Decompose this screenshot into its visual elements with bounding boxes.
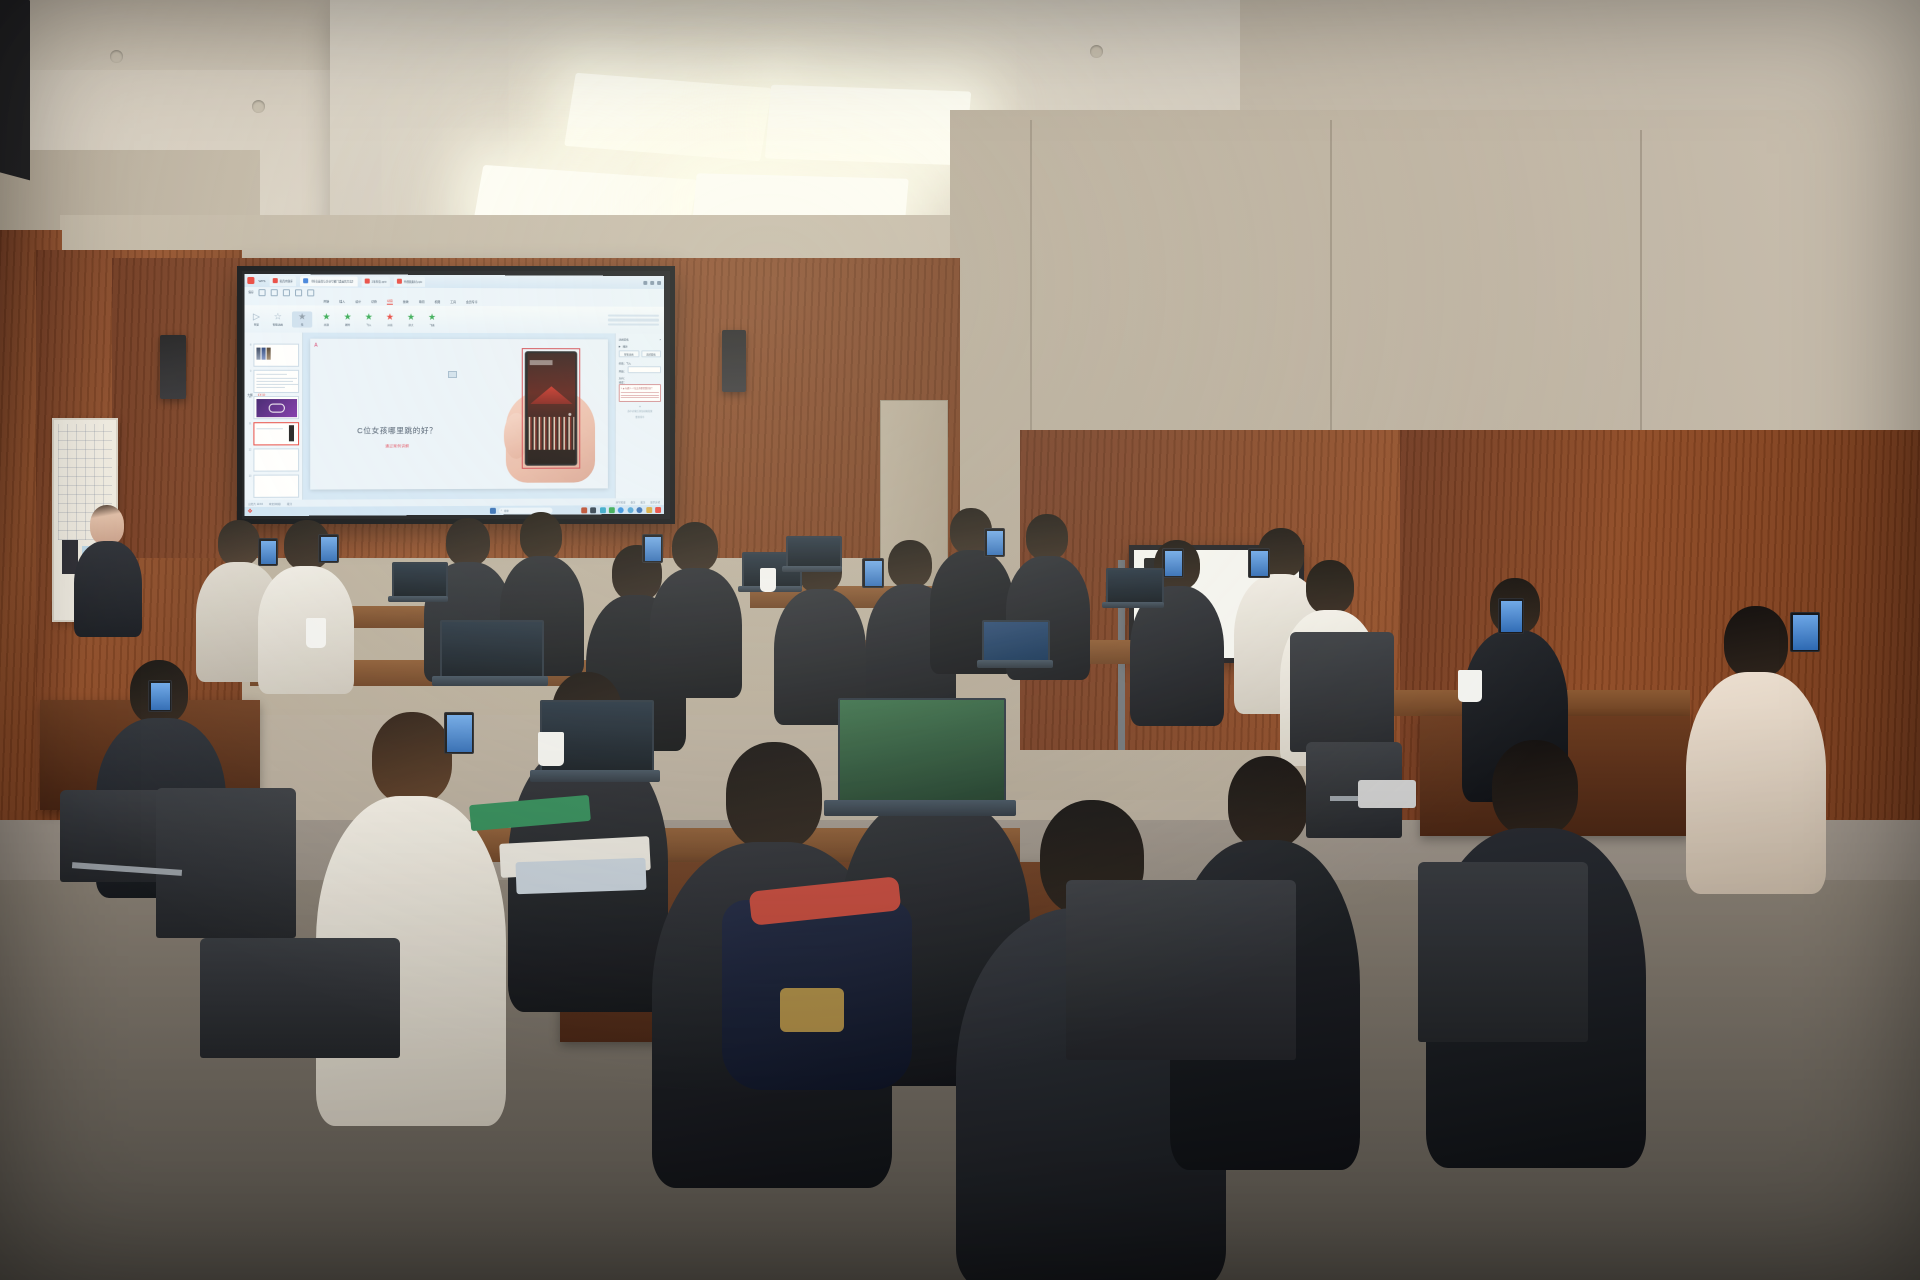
- ribbon-anim-none[interactable]: ★ 无: [292, 311, 312, 327]
- ribbon-anim-flyin-label: 飞入: [366, 322, 371, 326]
- wall-speaker-right: [722, 330, 746, 392]
- ribbon-tab-animation[interactable]: 动画: [387, 298, 393, 304]
- animation-ribbon[interactable]: ▷ 预览 ☆ 智能动画 ★ 无 ★ 出现: [244, 305, 664, 333]
- wall-speaker-left: [160, 335, 186, 399]
- ribbon-anim-none-label: 无: [301, 322, 304, 326]
- ribbon-line-3: [608, 323, 659, 326]
- ribbon-preview-button[interactable]: ▷ 预览: [249, 312, 263, 326]
- thumbnail-row-10[interactable]: 10: [247, 396, 299, 419]
- projection-screen-frame: WPS 稻壳内容库 【抖音运营与企业号被门类运营方法】 2年抖音.pptx: [237, 266, 675, 524]
- folder-icon[interactable]: [646, 507, 652, 513]
- star-icon-fade: ★: [386, 312, 394, 321]
- ribbon-tab-transition[interactable]: 切换: [371, 299, 377, 303]
- status-spellcheck[interactable]: 拼写检查: [616, 500, 626, 504]
- wps-tab-label-1: 稻壳内容库: [280, 279, 293, 283]
- wps-office-window[interactable]: WPS 稻壳内容库 【抖音运营与企业号被门类运营方法】 2年抖音.pptx: [244, 274, 664, 516]
- audience-member-6: [650, 522, 742, 692]
- play-triangle-icon: ▶: [619, 345, 621, 348]
- wps-tab-label-2: 【抖音运营与企业号被门类运营方法】: [310, 279, 355, 283]
- animation-pane-title: 动画窗格: [619, 337, 629, 341]
- start-field-label: 开始：: [619, 369, 626, 373]
- reorder-label[interactable]: 重新排序: [619, 415, 661, 419]
- phone-raised-12: [1790, 612, 1820, 652]
- ribbon-tab-slideshow[interactable]: 放映: [403, 299, 409, 303]
- ribbon-anim-appear-label: 出现: [324, 322, 329, 326]
- status-comments[interactable]: 批注: [640, 500, 645, 504]
- ribbon-tab-start[interactable]: 开始: [323, 299, 329, 303]
- thumbnail-11-selected[interactable]: [253, 422, 299, 445]
- ceiling-sensor-2: [252, 100, 265, 113]
- thumbnail-13[interactable]: [253, 475, 299, 498]
- window-controls[interactable]: [643, 280, 661, 284]
- slide-hand-holding-phone-image: [502, 348, 599, 483]
- phone-raised-10: [148, 680, 172, 712]
- animation-pane-hint: 选中对象后添加动画效果: [619, 409, 661, 413]
- status-comment[interactable]: 批注: [287, 502, 292, 506]
- presenter: [72, 505, 142, 635]
- ceiling-sensor-3: [1090, 45, 1103, 58]
- thumbnail-8[interactable]: [253, 344, 299, 367]
- thumbnail-row-13[interactable]: 13: [247, 475, 299, 498]
- photo-scene: WPS 稻壳内容库 【抖音运营与企业号被门类运营方法】 2年抖音.pptx: [0, 0, 1920, 1280]
- phone-raised-4: [862, 558, 884, 588]
- thumbnail-row-11[interactable]: 11: [247, 422, 299, 445]
- ribbon-anim-flyin[interactable]: ★ 飞入: [362, 312, 376, 326]
- backpack: [722, 900, 912, 1090]
- thumbnail-row-9[interactable]: 9: [247, 370, 299, 393]
- ribbon-anim-fade-label: 淡出: [387, 322, 392, 326]
- ribbon-tab-insert[interactable]: 插入: [339, 299, 345, 303]
- ribbon-anim-fast-label: 飞速: [429, 322, 434, 326]
- thumbnail-12[interactable]: [253, 448, 299, 471]
- play-icon: ▷: [253, 312, 260, 321]
- thumbnail-10[interactable]: [253, 396, 299, 419]
- ribbon-anim-fast[interactable]: ★ 飞速: [425, 312, 439, 326]
- slide-subtitle: 通过案例讲解: [310, 444, 484, 449]
- animation-pane-buttons[interactable]: 智能动画 选择窗格: [619, 350, 661, 359]
- phone-raised-7: [1162, 548, 1184, 578]
- chair-2: [156, 788, 296, 938]
- qat-label[interactable]: 保存: [248, 290, 253, 294]
- ribbon-tab-design[interactable]: 设计: [355, 299, 361, 303]
- phone-raised-6: [984, 528, 1005, 557]
- power-strip: [1358, 780, 1416, 808]
- thumbnail-people-icon: [256, 348, 270, 360]
- animation-list-box[interactable]: 1 ★ 标题 1: C位女孩哪里跳的好？: [619, 384, 661, 402]
- cup-2: [538, 732, 564, 766]
- cup-4: [1458, 670, 1482, 702]
- status-language[interactable]: 中文(中国): [269, 502, 281, 506]
- ppt-icon: [365, 279, 370, 284]
- status-slide-counter: 幻灯片 11/44: [248, 502, 263, 506]
- chair-7: [1066, 880, 1296, 1060]
- qq-icon[interactable]: [618, 507, 624, 513]
- thumbnail-number-9: 9: [247, 370, 251, 373]
- selection-pane-button[interactable]: 选择窗格: [641, 350, 661, 357]
- chair-3: [200, 938, 400, 1058]
- wps-tab-3[interactable]: 2年抖音.pptx: [362, 276, 390, 286]
- slide-title: C位女孩哪里跳的好？: [310, 424, 484, 435]
- ribbon-line-1: [608, 314, 659, 317]
- star-outline-icon: ☆: [274, 312, 282, 321]
- ribbon-tab-review[interactable]: 审阅: [419, 299, 425, 303]
- left-wall-monitor: [0, 0, 30, 180]
- chair-4: [1290, 632, 1394, 752]
- ceiling-light-1: [564, 73, 772, 162]
- wps-tab-label-4: 中视频素材.pptx: [404, 279, 423, 283]
- slide-panel-tab-outline[interactable]: 大纲: [247, 393, 252, 398]
- current-slide[interactable]: A C位女孩哪里跳的好？ 通过案例讲解: [310, 339, 608, 490]
- star-icon-none: ★: [298, 312, 306, 321]
- ribbon-anim-appear[interactable]: ★ 出现: [319, 312, 333, 326]
- ribbon-anim-wipe-label: 擦除: [345, 322, 350, 326]
- taskbar-app-icons[interactable]: [581, 507, 661, 513]
- start-field-input[interactable]: [627, 366, 661, 373]
- status-view-mode[interactable]: 显示方式: [650, 500, 660, 504]
- maximize-icon[interactable]: [650, 280, 654, 284]
- thumbnail-number-12: 12: [247, 448, 251, 451]
- status-notes[interactable]: 备注: [631, 500, 636, 504]
- ceiling-light-2: [765, 85, 971, 166]
- phone-raised-2: [318, 534, 339, 563]
- animation-list-item[interactable]: 1 ★ 标题 1: C位女孩哪里跳的好？: [621, 386, 659, 390]
- cup-3: [760, 568, 776, 592]
- wps-tab-4[interactable]: 中视频素材.pptx: [394, 276, 426, 286]
- folder: [515, 858, 646, 895]
- wps-workspace: 大纲 幻灯片 8 9: [244, 332, 664, 500]
- wps-tab-2[interactable]: 【抖音运营与企业号被门类运营方法】: [300, 276, 358, 286]
- app-icon-2[interactable]: [590, 507, 596, 513]
- slide-logo-icon: A: [314, 343, 317, 349]
- chair-6: [1418, 862, 1588, 1042]
- ribbon-preview-label: 预览: [254, 322, 259, 326]
- ribbon-smart-animation-button[interactable]: ☆ 智能动画: [271, 312, 285, 326]
- wechat-icon[interactable]: [609, 507, 615, 513]
- thumbnail-number-13: 13: [247, 475, 251, 478]
- edge-icon[interactable]: [637, 507, 643, 513]
- wps-tab-label-3: 2年抖音.pptx: [372, 279, 387, 283]
- wps-app-icon[interactable]: [655, 507, 661, 513]
- status-right-group[interactable]: 拼写检查 备注 批注 显示方式: [616, 500, 660, 504]
- format-painter-icon[interactable]: [295, 289, 302, 296]
- ribbon-smart-animation-label: 智能动画: [273, 322, 283, 326]
- minimize-icon[interactable]: [643, 280, 647, 284]
- share-icon[interactable]: [307, 289, 314, 296]
- star-icon-grow: ★: [407, 312, 415, 321]
- ribbon-anim-fade[interactable]: ★ 淡出: [383, 312, 397, 326]
- redo-icon[interactable]: [283, 289, 290, 296]
- undo-icon[interactable]: [271, 289, 278, 296]
- slide-image-selection-frame: [522, 348, 580, 468]
- cup-1: [306, 618, 326, 648]
- thumbnail-row-8[interactable]: 8: [247, 344, 299, 367]
- windows-start-icon[interactable]: ❖: [247, 508, 252, 515]
- ribbon-anim-wipe[interactable]: ★ 擦除: [341, 312, 355, 326]
- thumbnail-9[interactable]: [253, 370, 299, 393]
- thumbnail-dark-banner: [256, 399, 297, 417]
- thumbnail-phone-icon: [289, 425, 294, 441]
- ceiling-sensor-1: [110, 50, 123, 63]
- doc-icon: [303, 278, 308, 283]
- thumbnail-number-8: 8: [247, 344, 251, 347]
- phone-raised-11: [444, 712, 474, 754]
- star-icon-appear: ★: [322, 312, 330, 321]
- ribbon-tab-tools[interactable]: 工具: [450, 299, 456, 303]
- mail-icon[interactable]: [600, 507, 606, 513]
- phone-raised-3: [642, 534, 663, 563]
- star-icon-flyin: ★: [365, 312, 373, 321]
- grid-icon: [273, 278, 278, 283]
- slide-editing-area[interactable]: A C位女孩哪里跳的好？ 通过案例讲解: [303, 333, 615, 500]
- conference-room: WPS 稻壳内容库 【抖音运营与企业号被门类运营方法】 2年抖音.pptx: [0, 0, 1920, 1280]
- projection-screen[interactable]: WPS 稻壳内容库 【抖音运营与企业号被门类运营方法】 2年抖音.pptx: [244, 274, 664, 516]
- animation-play-label: 播放: [623, 344, 628, 348]
- wps-tab-1[interactable]: 稻壳内容库: [270, 276, 296, 286]
- slide-thumbnail-panel[interactable]: 大纲 幻灯片 8 9: [244, 332, 303, 500]
- slide-video-placeholder: [448, 370, 457, 377]
- ribbon-tab-view[interactable]: 视图: [434, 299, 440, 303]
- wps-tab-label-0[interactable]: WPS: [258, 279, 265, 283]
- thumbnail-number-11: 11: [247, 422, 251, 425]
- backpack-badge: [780, 988, 844, 1032]
- phone-raised-9: [1498, 598, 1524, 634]
- windows-taskbar[interactable]: ❖ ⌕ 搜索: [244, 505, 664, 516]
- animation-pane-header: 动画窗格 ×: [619, 337, 661, 341]
- close-icon[interactable]: [657, 280, 661, 284]
- task-view-icon[interactable]: [490, 507, 496, 513]
- ribbon-tab-member[interactable]: 会员专享: [466, 300, 478, 304]
- smart-animation-button[interactable]: 智能动画: [619, 350, 639, 357]
- ppt-icon-2: [397, 279, 402, 284]
- animation-play-row[interactable]: ▶ 播放: [619, 344, 661, 348]
- thumbnail-row-12[interactable]: 12: [247, 448, 299, 471]
- audience-member-2: [258, 520, 354, 690]
- wps-logo-icon: [247, 277, 254, 284]
- animation-pane-close-icon[interactable]: ×: [660, 338, 661, 341]
- ribbon-line-2: [608, 319, 659, 322]
- print-icon[interactable]: [259, 289, 266, 296]
- star-icon-fast: ★: [428, 312, 436, 321]
- phone-raised-8: [1248, 548, 1270, 578]
- animation-pane[interactable]: 动画窗格 × ▶ 播放 智能动画 选择窗格 修改：飞入: [615, 333, 664, 498]
- modify-section-title: 修改：飞入: [619, 361, 661, 365]
- ribbon-anim-grow-label: 放大: [408, 322, 413, 326]
- ribbon-anim-grow[interactable]: ★ 放大: [404, 312, 418, 326]
- star-icon-wipe: ★: [343, 312, 351, 321]
- scene-caption: Conference room training session with pr…: [14, 1261, 340, 1272]
- browser-icon[interactable]: [627, 507, 633, 513]
- ribbon-overflow-options[interactable]: [608, 314, 659, 325]
- start-field-row[interactable]: 开始：: [619, 366, 661, 376]
